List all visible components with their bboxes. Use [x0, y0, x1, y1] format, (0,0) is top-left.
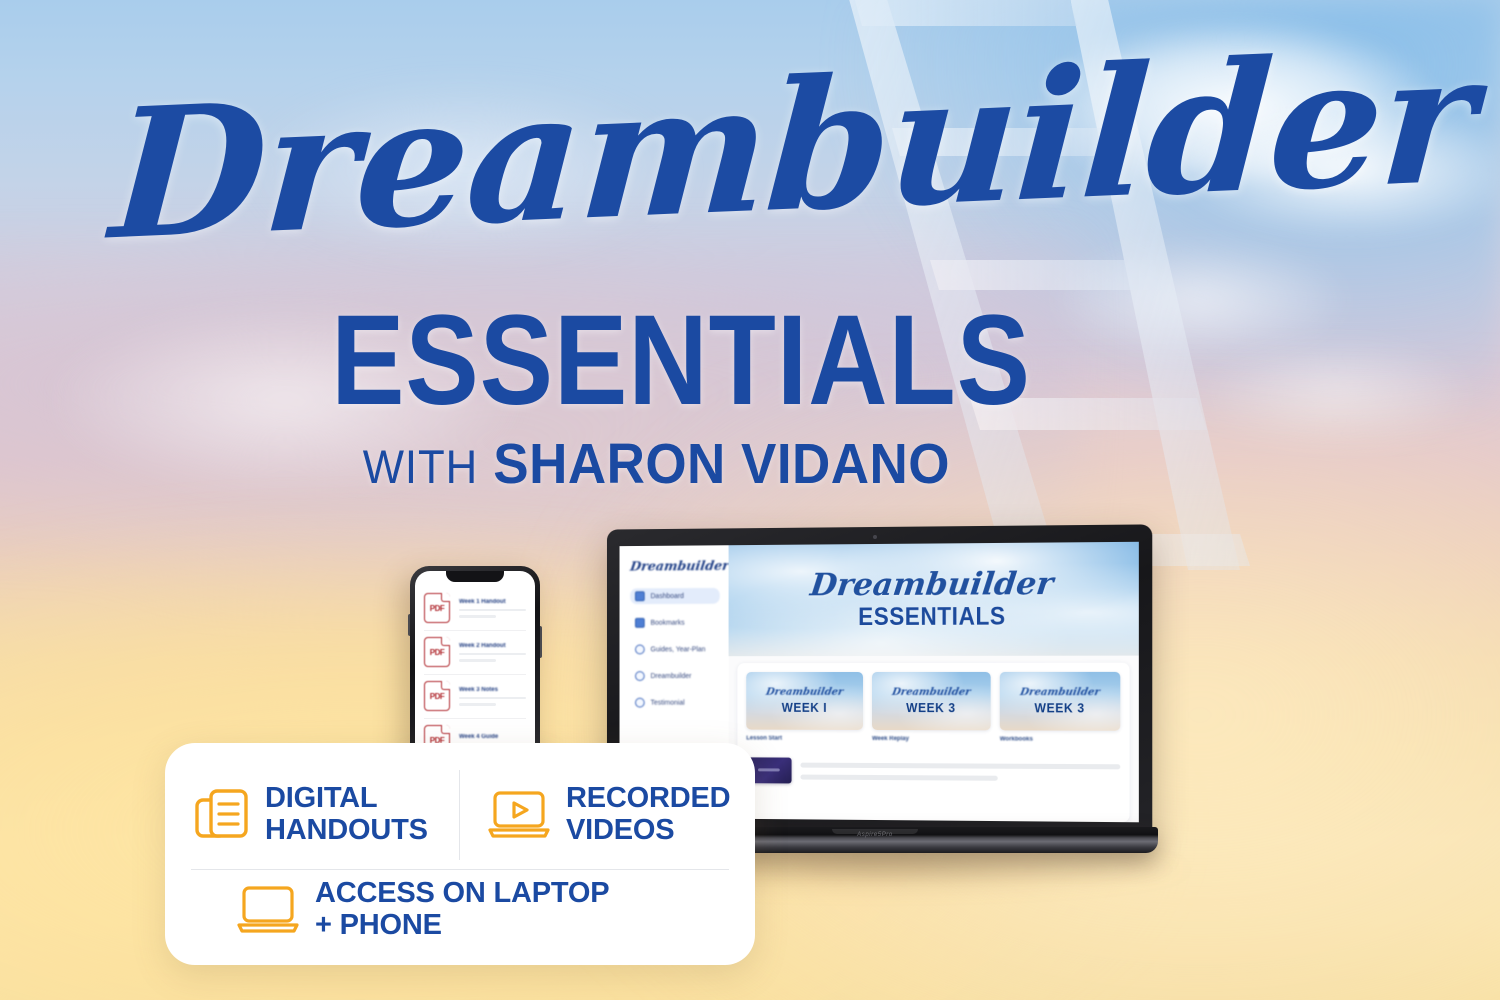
skeleton-line [800, 762, 1120, 769]
feature-digital-handouts[interactable]: DIGITAL HANDOUTS [189, 783, 459, 847]
sidebar-nav: Dashboard Bookmarks Guides, Year-Plan [630, 588, 720, 711]
pdf-icon: PDF [424, 637, 450, 667]
sidebar-item-label: Dashboard [651, 593, 684, 600]
content-list-row[interactable] [746, 757, 1120, 785]
list-item-title: Week 1 Handout [459, 599, 526, 605]
grid-icon [635, 591, 645, 601]
hero-subtitle: ESSENTIALS [858, 604, 1005, 630]
feature-access-laptop-phone[interactable]: ACCESS ON LAPTOP + PHONE [189, 870, 731, 949]
sidebar-item-label: Guides, Year-Plan [651, 646, 706, 653]
video-laptop-icon [488, 790, 550, 840]
week-card[interactable]: Dreambuilder WEEK 3 Week Replay [872, 672, 991, 743]
week-card-grid: Dreambuilder WEEK I Lesson Start Dreambu… [746, 672, 1120, 743]
feature-label: RECORDED VIDEOS [566, 783, 730, 847]
week-card-caption: Lesson Start [746, 736, 863, 742]
sidebar-logo: Dreambuilder [629, 559, 721, 574]
week-card[interactable]: Dreambuilder WEEK 3 Workbooks [1000, 672, 1121, 743]
phone-mockup: PDF Week 1 Handout PDF Week 2 Handout PD… [410, 566, 540, 758]
feature-label: ACCESS ON LAPTOP + PHONE [315, 878, 609, 942]
skeleton-bar [459, 615, 496, 618]
features-card: DIGITAL HANDOUTS RECORDED VIDEOS [165, 743, 755, 965]
laptop-brand-label: Aspire5Pro [857, 832, 893, 838]
sidebar-item-guides[interactable]: Guides, Year-Plan [630, 641, 720, 657]
sidebar-item-dashboard[interactable]: Dashboard [630, 588, 720, 604]
list-item-title: Week 2 Handout [459, 643, 526, 649]
refresh-icon [635, 671, 645, 681]
sidebar-item-bookmarks[interactable]: Bookmarks [630, 615, 720, 631]
list-item-title: Week 3 Notes [459, 687, 526, 693]
features-top-row: DIGITAL HANDOUTS RECORDED VIDEOS [189, 761, 731, 869]
byline-prefix: WITH [363, 440, 478, 493]
feature-label-line1: ACCESS ON LAPTOP [315, 877, 609, 909]
skeleton-bar [459, 659, 496, 662]
documents-icon [195, 786, 249, 844]
hero-script-title: Dreambuilder [809, 569, 1055, 602]
bookmark-icon [635, 618, 645, 628]
promo-poster: Dreambuilder ESSENTIALS WITH SHARON VIDA… [0, 0, 1500, 1000]
week-card-caption: Workbooks [1000, 736, 1121, 743]
byline-name: SHARON VIDANO [493, 432, 950, 496]
week-card-label: WEEK I [782, 701, 827, 714]
laptop-icon [237, 885, 299, 935]
skeleton-line [800, 774, 997, 780]
skeleton-bar [459, 703, 496, 706]
pdf-icon: PDF [424, 593, 450, 623]
week-card-thumbnail: Dreambuilder WEEK 3 [872, 672, 991, 730]
sidebar-item-label: Bookmarks [651, 619, 685, 626]
week-card-label: WEEK 3 [906, 701, 955, 714]
content-skeleton [800, 762, 1120, 781]
headline-script: Dreambuilder [107, 38, 1267, 265]
skeleton-bar [459, 609, 526, 612]
week-card-label: WEEK 3 [1035, 701, 1085, 714]
course-hero-banner: Dreambuilder ESSENTIALS [729, 542, 1139, 656]
week-card-thumbnail: Dreambuilder WEEK 3 [1000, 672, 1121, 731]
sidebar-item-dreambuilder[interactable]: Dreambuilder [630, 668, 720, 684]
feature-label-line2: VIDEOS [566, 815, 730, 847]
course-content-panel: Dreambuilder WEEK I Lesson Start Dreambu… [737, 663, 1129, 822]
feature-label-line2: HANDOUTS [265, 815, 428, 847]
clock-icon [635, 645, 645, 655]
sidebar-item-testimonial[interactable]: Testimonial [630, 695, 720, 711]
phone-volume-button [408, 614, 410, 636]
feature-label: DIGITAL HANDOUTS [265, 783, 428, 847]
feature-label-line1: RECORDED [566, 782, 730, 814]
phone-power-button [540, 626, 542, 658]
list-item[interactable]: PDF Week 1 Handout [424, 587, 526, 631]
sidebar-item-label: Testimonial [651, 699, 685, 706]
headline-main: ESSENTIALS [0, 300, 1290, 423]
skeleton-bar [459, 697, 526, 700]
week-card-thumbnail: Dreambuilder WEEK I [746, 672, 863, 730]
week-card-script: Dreambuilder [1019, 688, 1100, 698]
phone-notch [446, 571, 504, 582]
week-card[interactable]: Dreambuilder WEEK I Lesson Start [746, 672, 863, 742]
week-card-caption: Week Replay [872, 736, 991, 742]
pdf-icon: PDF [424, 681, 450, 711]
phone-screen: PDF Week 1 Handout PDF Week 2 Handout PD… [415, 571, 535, 758]
list-item-text: Week 1 Handout [459, 599, 526, 618]
feature-label-line1: DIGITAL [265, 782, 377, 814]
feature-recorded-videos[interactable]: RECORDED VIDEOS [460, 783, 731, 847]
week-card-script: Dreambuilder [891, 688, 971, 698]
course-main: Dreambuilder ESSENTIALS Dreambuilder WEE… [729, 542, 1139, 823]
webcam-icon [873, 535, 877, 539]
week-card-script: Dreambuilder [765, 688, 844, 698]
feature-label-line2: + PHONE [315, 910, 609, 942]
list-item-text: Week 3 Notes [459, 687, 526, 706]
list-item[interactable]: PDF Week 2 Handout [424, 631, 526, 675]
smile-icon [635, 698, 645, 708]
list-item-title: Week 4 Guide [459, 734, 526, 740]
byline: WITH SHARON VIDANO [0, 436, 1395, 493]
skeleton-bar [459, 653, 526, 656]
sidebar-item-label: Dreambuilder [651, 673, 692, 680]
list-item[interactable]: PDF Week 3 Notes [424, 675, 526, 719]
list-item-text: Week 2 Handout [459, 643, 526, 662]
